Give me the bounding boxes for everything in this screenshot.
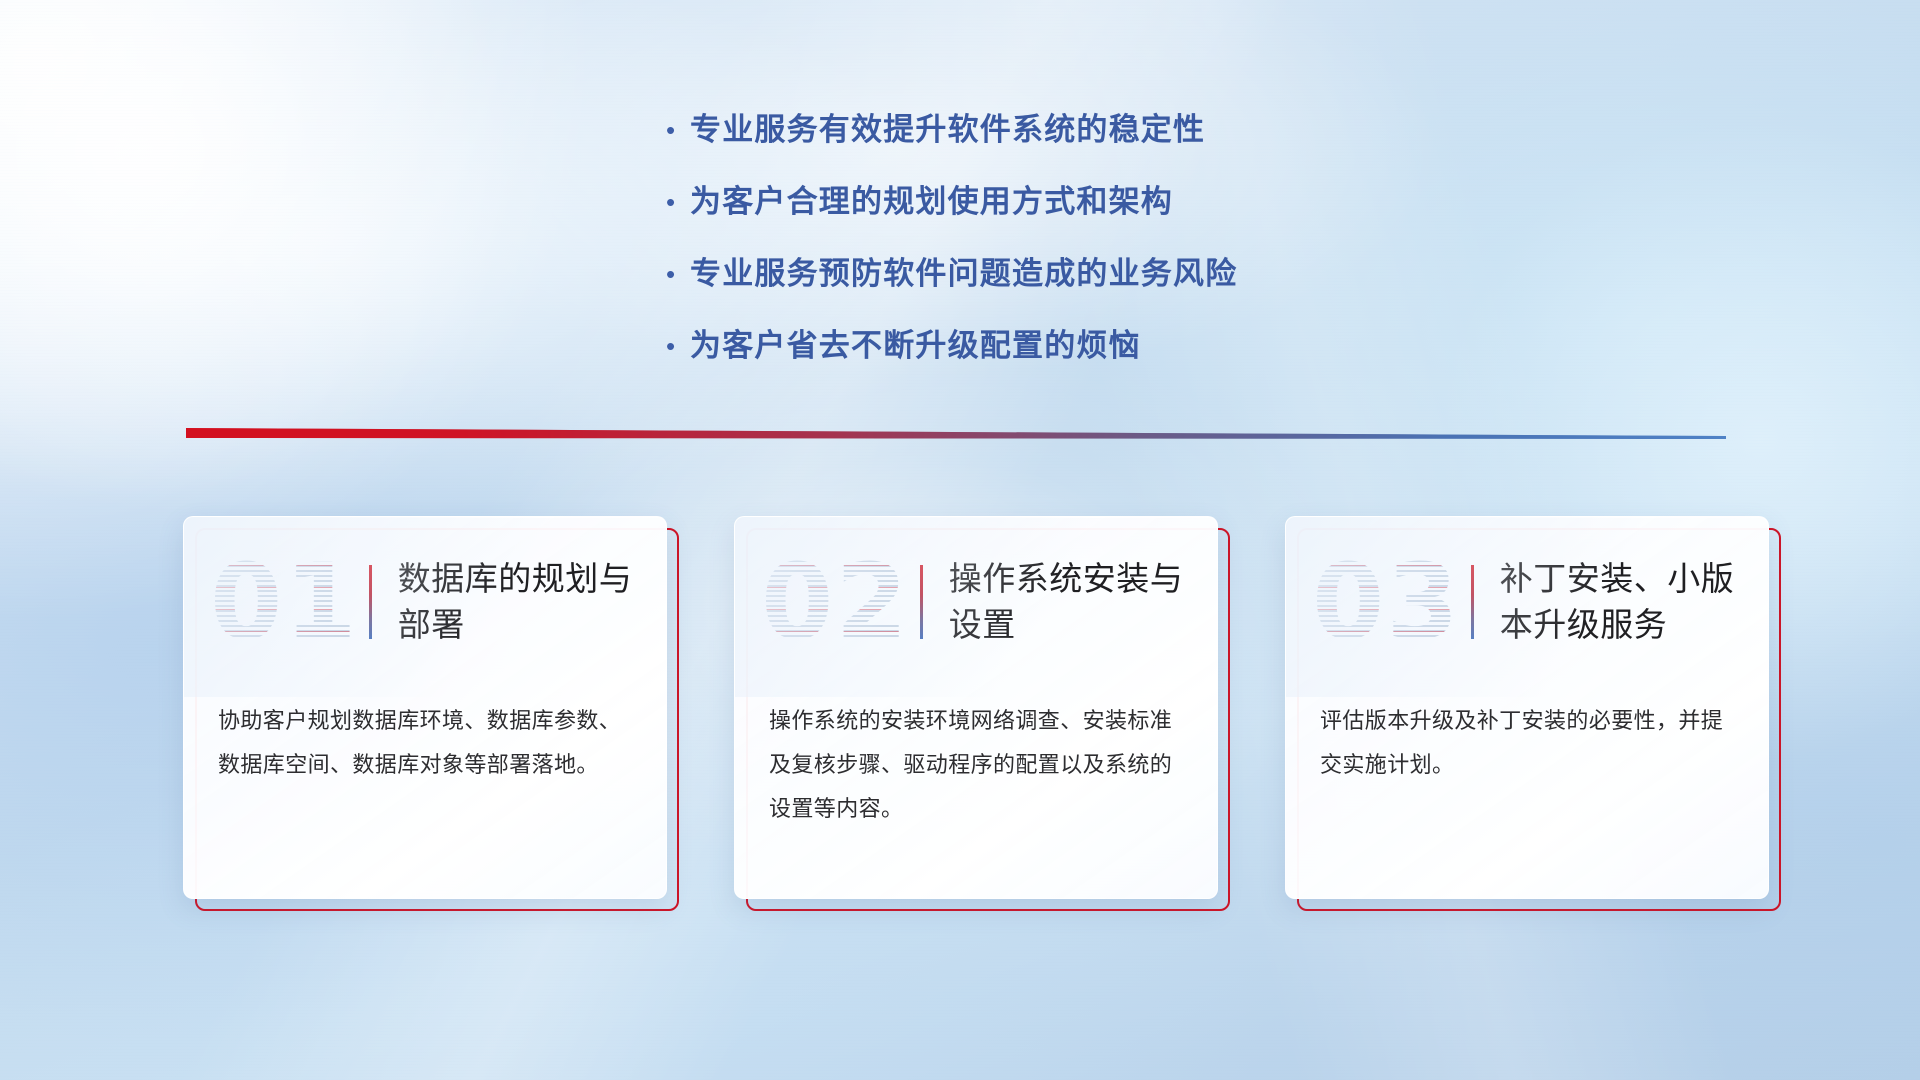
card-number-badge: 03 03 (1312, 543, 1461, 661)
card-header: 02 02 操作系统安装与设置 (735, 517, 1217, 687)
card-number-text: 02 (761, 550, 910, 654)
card-surface: 03 03 补丁安装、小版本升级服务 评估版本升级及补丁安装的必要性，并提交实施… (1285, 516, 1769, 899)
card-title-divider-bar (1471, 565, 1474, 639)
card-title: 补丁安装、小版本升级服务 (1500, 556, 1750, 648)
bullet-dot-icon: • (660, 108, 690, 152)
bullet-item-text: 为客户合理的规划使用方式和架构 (690, 180, 1173, 224)
service-card-02[interactable]: 02 02 操作系统安装与设置 操作系统的安装环境网络调查、安装标准及复核步骤、… (734, 516, 1230, 911)
bullet-item: • 为客户省去不断升级配置的烦恼 (660, 324, 1420, 368)
card-header: 01 01 数据库的规划与部署 (184, 517, 666, 687)
card-description: 操作系统的安装环境网络调查、安装标准及复核步骤、驱动程序的配置以及系统的设置等内… (735, 687, 1217, 831)
service-card-03[interactable]: 03 03 补丁安装、小版本升级服务 评估版本升级及补丁安装的必要性，并提交实施… (1285, 516, 1781, 911)
card-number-text: 03 (1312, 550, 1461, 654)
card-number-text: 01 (210, 550, 359, 654)
card-number-badge: 01 01 (210, 543, 359, 661)
bullet-dot-icon: • (660, 180, 690, 224)
service-card-01[interactable]: 01 01 数据库的规划与部署 协助客户规划数据库环境、数据库参数、数据库空间、… (183, 516, 679, 911)
card-title: 数据库的规划与部署 (398, 556, 648, 648)
benefits-bullet-list: • 专业服务有效提升软件系统的稳定性 • 为客户合理的规划使用方式和架构 • 专… (660, 108, 1420, 396)
bullet-dot-icon: • (660, 324, 690, 368)
background-glow-left (0, 0, 520, 500)
card-title-divider-bar (920, 565, 923, 639)
service-cards-row: 01 01 数据库的规划与部署 协助客户规划数据库环境、数据库参数、数据库空间、… (183, 516, 1783, 911)
bullet-dot-icon: • (660, 252, 690, 296)
card-description: 评估版本升级及补丁安装的必要性，并提交实施计划。 (1286, 687, 1768, 787)
card-title: 操作系统安装与设置 (949, 556, 1199, 648)
slide-canvas: • 专业服务有效提升软件系统的稳定性 • 为客户合理的规划使用方式和架构 • 专… (0, 0, 1920, 1080)
bullet-item-text: 为客户省去不断升级配置的烦恼 (690, 324, 1141, 368)
card-surface: 01 01 数据库的规划与部署 协助客户规划数据库环境、数据库参数、数据库空间、… (183, 516, 667, 899)
bullet-item: • 专业服务有效提升软件系统的稳定性 (660, 108, 1420, 152)
bullet-item: • 专业服务预防软件问题造成的业务风险 (660, 252, 1420, 296)
card-header: 03 03 补丁安装、小版本升级服务 (1286, 517, 1768, 687)
section-divider (186, 424, 1726, 446)
card-number-badge: 02 02 (761, 543, 910, 661)
card-title-divider-bar (369, 565, 372, 639)
card-surface: 02 02 操作系统安装与设置 操作系统的安装环境网络调查、安装标准及复核步骤、… (734, 516, 1218, 899)
bullet-item-text: 专业服务有效提升软件系统的稳定性 (690, 108, 1205, 152)
bullet-item: • 为客户合理的规划使用方式和架构 (660, 180, 1420, 224)
bullet-item-text: 专业服务预防软件问题造成的业务风险 (690, 252, 1237, 296)
card-description: 协助客户规划数据库环境、数据库参数、数据库空间、数据库对象等部署落地。 (184, 687, 666, 787)
